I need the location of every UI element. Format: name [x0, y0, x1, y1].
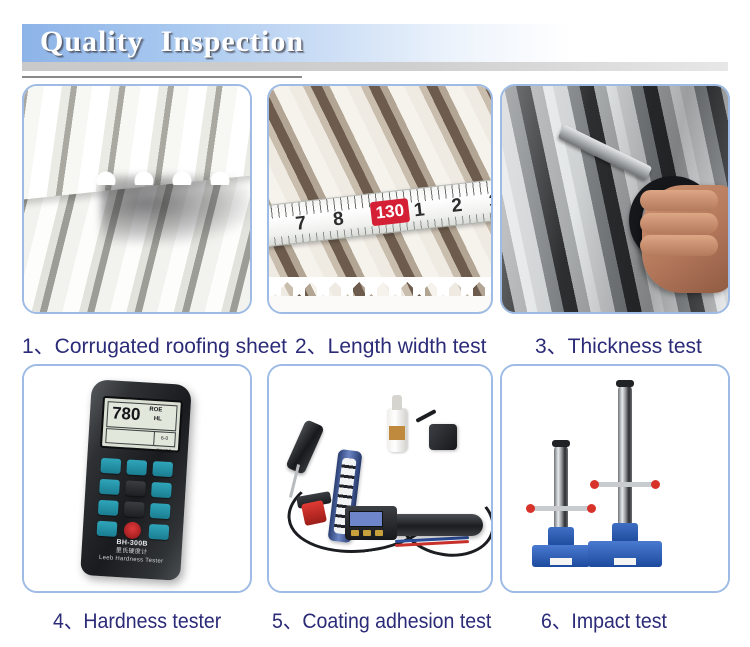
impact-tester-large — [618, 385, 632, 567]
caption-panel-3: 3、Thickness test — [535, 332, 702, 362]
lcd-secondary-readout: 6-0 TIMES — [153, 431, 176, 447]
lcd-unit-top: ROE — [149, 407, 162, 414]
caption-panel-1: 1、Corrugated roofing sheet — [22, 332, 287, 362]
header-banner: Quality Inspection — [22, 24, 728, 62]
caption-row-bottom: 4、Hardness tester 5、Coating adhesion tes… — [0, 607, 750, 637]
roofing-sheet-icon — [24, 86, 250, 312]
tape-measure-icon: 6 7 8 9 130 1 2 3 — [269, 86, 491, 312]
panel-thickness-test[interactable] — [500, 84, 730, 314]
panel-hardness-tester[interactable]: 780 ROEHL 6-0 TIMES — [22, 364, 252, 593]
panel-impact-test[interactable] — [500, 364, 730, 593]
device-model-sub: 里氏硬度计 — [116, 548, 148, 556]
thickness-gauge-icon — [502, 86, 728, 312]
panel-length-width-test[interactable]: 6 7 8 9 130 1 2 3 — [267, 84, 493, 314]
adhesion-tester-icon — [269, 366, 491, 591]
caption-panel-4: 4、Hardness tester — [53, 607, 221, 637]
tape-highlight-value: 130 — [370, 198, 410, 226]
caption-panel-2: 2、Length width test — [295, 332, 486, 362]
lcd-unit: HL — [154, 416, 162, 422]
header-divider-rule — [22, 76, 302, 78]
panel-coating-adhesion-test[interactable] — [267, 364, 493, 593]
caption-row-top: 1、Corrugated roofing sheet 2、Length widt… — [0, 332, 750, 362]
lcd-value: 780 — [111, 402, 141, 426]
page-title: Quality Inspection — [40, 23, 304, 61]
panel-corrugated-roofing-sheet[interactable] — [22, 84, 252, 314]
hardness-tester-icon: 780 ROEHL 6-0 TIMES — [24, 366, 250, 591]
caption-panel-6: 6、Impact test — [541, 607, 667, 637]
device-model-label: BH-300B — [116, 539, 148, 548]
caption-panel-5: 5、Coating adhesion test — [272, 607, 491, 637]
impact-tester-icon — [502, 366, 728, 591]
device-lcd-screen: 780 ROEHL 6-0 TIMES — [100, 396, 183, 453]
header-underbar — [22, 62, 728, 71]
impact-tester-small — [554, 445, 568, 567]
device-model-sub-en: Leeb Hardness Tester — [99, 555, 164, 565]
